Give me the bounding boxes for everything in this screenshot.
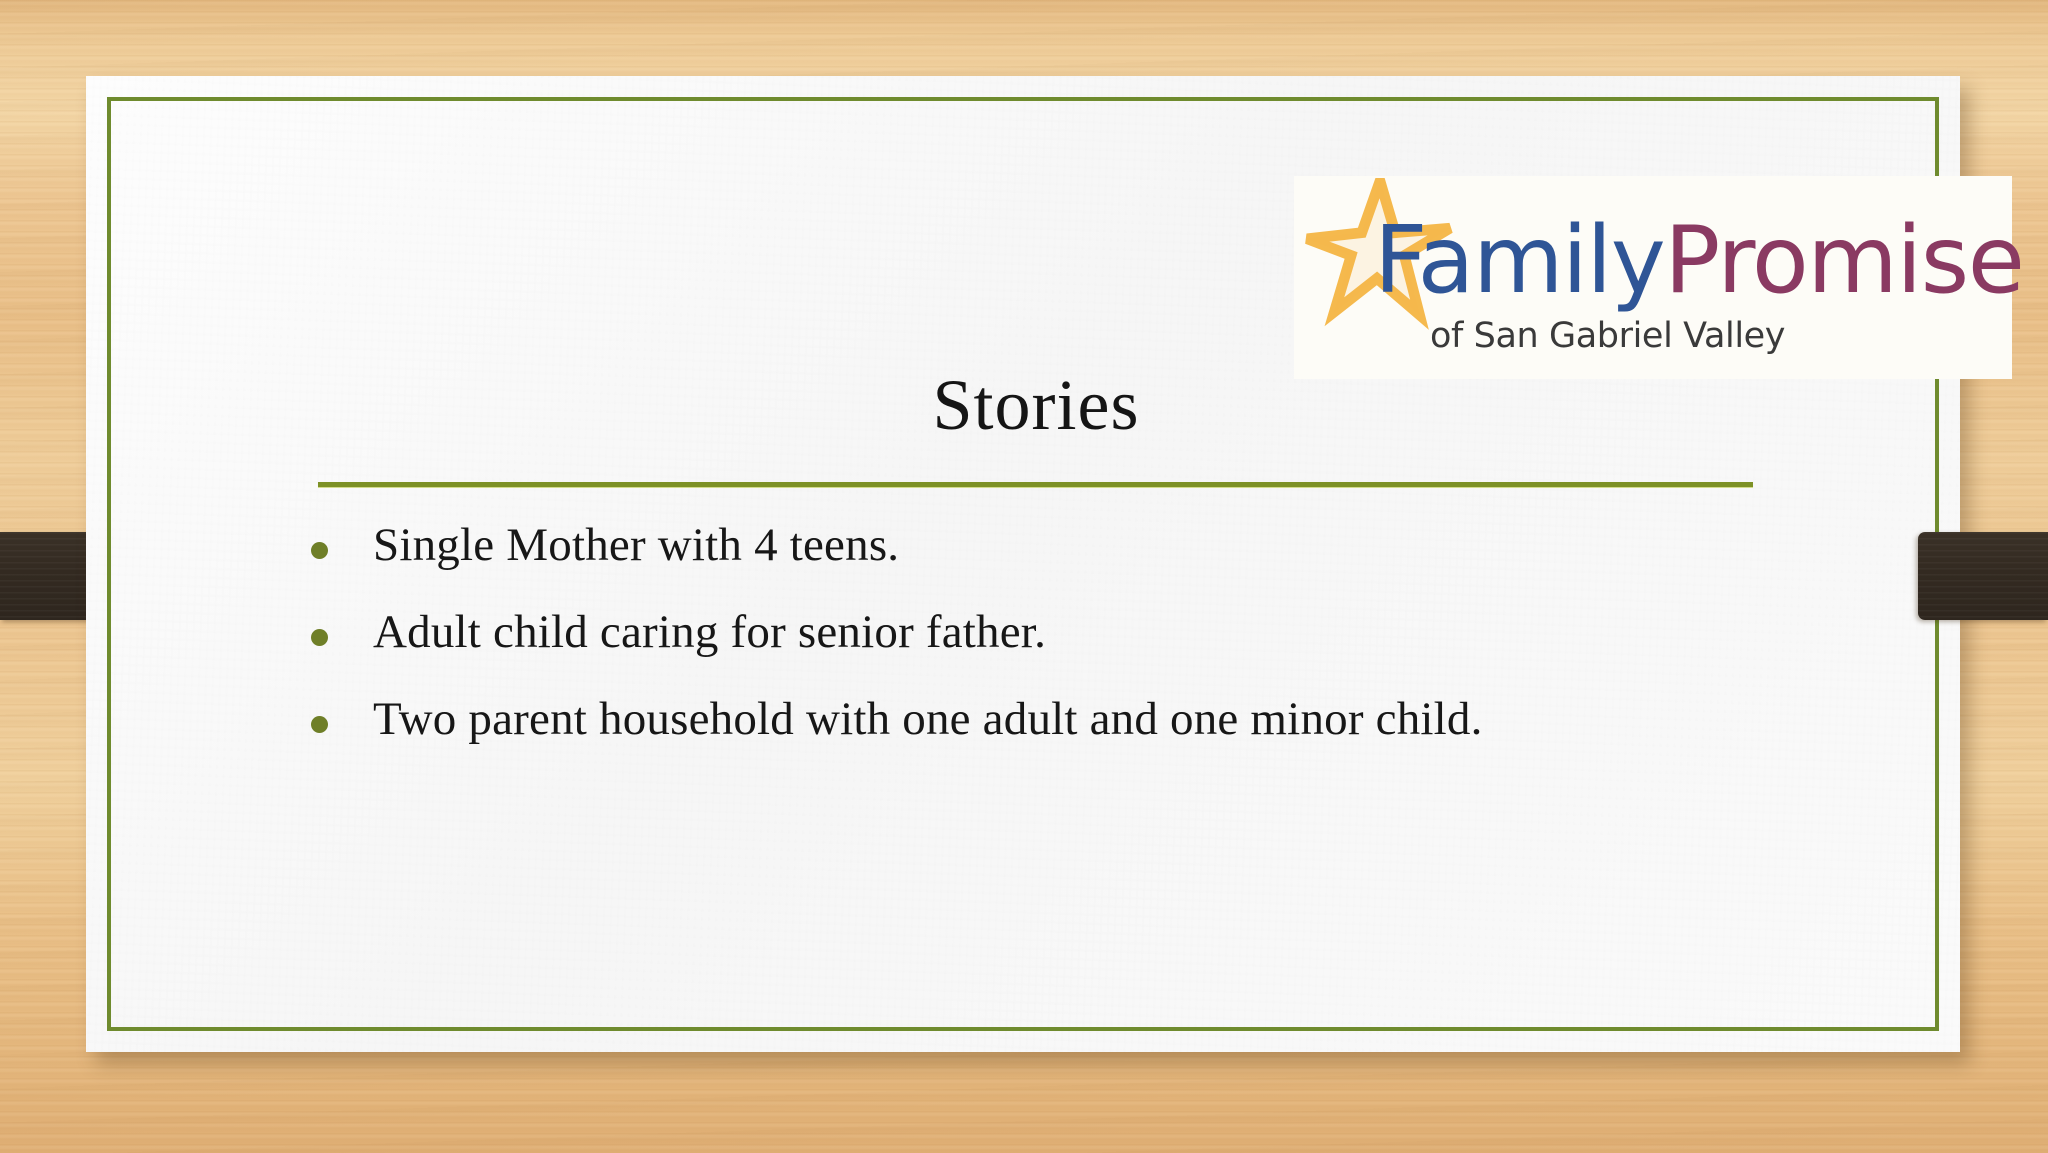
presentation-stage: FamilyPromise of San Gabriel Valley Stor…: [0, 0, 2048, 1153]
bullet-dot-icon: [311, 716, 328, 733]
logo-word-family: Family: [1374, 206, 1664, 314]
right-ribbon-tab: [1918, 532, 2048, 620]
list-item-label: Single Mother with 4 teens.: [373, 514, 899, 577]
list-item: Single Mother with 4 teens.: [311, 514, 1831, 580]
logo-inner: FamilyPromise of San Gabriel Valley: [1294, 176, 2012, 379]
list-item: Two parent household with one adult and …: [311, 688, 1831, 754]
bullet-dot-icon: [311, 629, 328, 646]
bullet-list: Single Mother with 4 teens. Adult child …: [311, 514, 1831, 775]
list-item-label: Adult child caring for senior father.: [373, 601, 1046, 664]
logo-subtitle: of San Gabriel Valley: [1430, 316, 1785, 356]
slide-canvas: FamilyPromise of San Gabriel Valley Stor…: [86, 76, 1960, 1052]
list-item-label: Two parent household with one adult and …: [373, 688, 1483, 751]
slide-title: Stories: [326, 366, 1746, 445]
title-underline-rule: [318, 482, 1753, 487]
family-promise-logo: FamilyPromise of San Gabriel Valley: [1294, 176, 2012, 379]
logo-wordmark: FamilyPromise: [1374, 214, 2023, 307]
list-item: Adult child caring for senior father.: [311, 601, 1831, 667]
logo-word-promise: Promise: [1664, 206, 2023, 314]
bullet-dot-icon: [311, 542, 328, 559]
